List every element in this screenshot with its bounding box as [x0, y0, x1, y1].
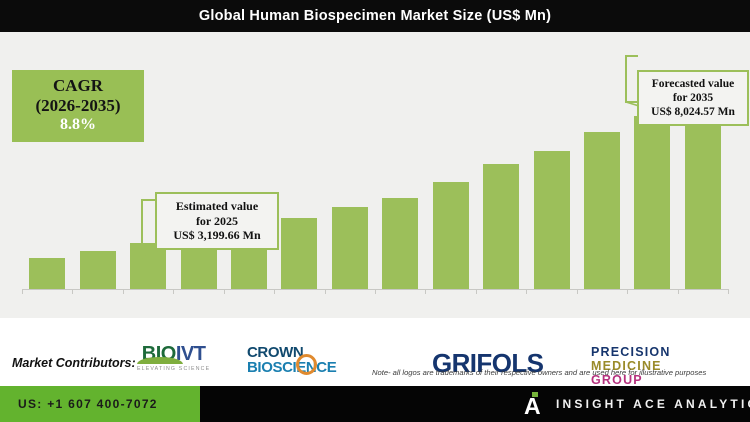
cagr-label: CAGR — [53, 77, 103, 95]
footer-phone[interactable]: US: +1 607 400-7072 — [18, 386, 158, 422]
axis-tick — [526, 289, 527, 294]
logo-bioivt: BIOIVT ELEVATING SCIENCE — [137, 344, 210, 372]
contributors-label: Market Contributors: — [12, 356, 136, 370]
axis-tick — [375, 289, 376, 294]
crown-ring-icon — [296, 354, 317, 375]
bar-2033 — [584, 132, 620, 289]
callout-2025-line2: for 2025 — [165, 214, 269, 229]
bar-2030 — [433, 182, 469, 289]
axis-tick — [325, 289, 326, 294]
axis-tick — [476, 289, 477, 294]
crown-line1: CROWN — [247, 345, 336, 360]
bar-2034 — [634, 116, 670, 289]
axis-tick — [678, 289, 679, 294]
footer-bar: US: +1 607 400-7072 A INSIGHT ACE ANALYT… — [0, 386, 750, 422]
bar-2027 — [281, 218, 317, 289]
bar-2032 — [534, 151, 570, 289]
infographic-poster: Global Human Biospecimen Market Size (US… — [0, 0, 750, 422]
logo-letter: A — [524, 395, 546, 417]
pmg-line1: PRECISION — [591, 345, 671, 359]
axis-tick — [173, 289, 174, 294]
page-title: Global Human Biospecimen Market Size (US… — [0, 0, 750, 32]
crown-line2: BIOSCIENCE — [247, 360, 336, 376]
logo-precision-medicine-group: PRECISION MEDICINE GROUP — [591, 345, 671, 387]
axis-tick — [224, 289, 225, 294]
bar-2028 — [332, 207, 368, 289]
cagr-value: 8.8% — [60, 115, 96, 135]
callout-forecast-2035: Forecasted value for 2035 US$ 8,024.57 M… — [637, 70, 749, 126]
callout-2025-line1: Estimated value — [165, 199, 269, 214]
axis-tick — [425, 289, 426, 294]
bioivt-tagline: ELEVATING SCIENCE — [137, 366, 210, 372]
trademark-note: Note- all logos are trademarks of their … — [372, 368, 706, 377]
callout-2035-line2: for 2035 — [647, 91, 739, 105]
axis-tick — [72, 289, 73, 294]
footer-brand-name: INSIGHT ACE ANALYTIC — [556, 386, 750, 422]
axis-tick — [728, 289, 729, 294]
axis-tick — [577, 289, 578, 294]
insight-ace-logo-icon: A — [524, 392, 546, 417]
bar-2023 — [80, 251, 116, 289]
callout-2035-line1: Forecasted value — [647, 77, 739, 91]
bar-2029 — [382, 198, 418, 289]
bar-2031 — [483, 164, 519, 289]
axis-tick — [123, 289, 124, 294]
axis-tick — [22, 289, 23, 294]
cagr-period: (2026-2035) — [36, 96, 121, 115]
bar-2022 — [29, 258, 65, 289]
callout-2025-line3: US$ 3,199.66 Mn — [165, 228, 269, 243]
callout-2035-line3: US$ 8,024.57 Mn — [647, 105, 739, 119]
callout-estimated-2025: Estimated value for 2025 US$ 3,199.66 Mn — [155, 192, 279, 250]
bioivt-swoosh-icon — [137, 357, 183, 364]
title-bar: Global Human Biospecimen Market Size (US… — [0, 0, 750, 32]
logo-crown-bioscience: CROWN BIOSCIENCE — [247, 345, 336, 376]
chart-plot-area: CAGR (2026-2035) 8.8% Estimated value fo… — [0, 32, 750, 318]
axis-tick — [274, 289, 275, 294]
cagr-badge: CAGR (2026-2035) 8.8% — [12, 70, 144, 142]
axis-tick — [627, 289, 628, 294]
market-contributors-strip: Market Contributors: BIOIVT ELEVATING SC… — [0, 318, 750, 386]
